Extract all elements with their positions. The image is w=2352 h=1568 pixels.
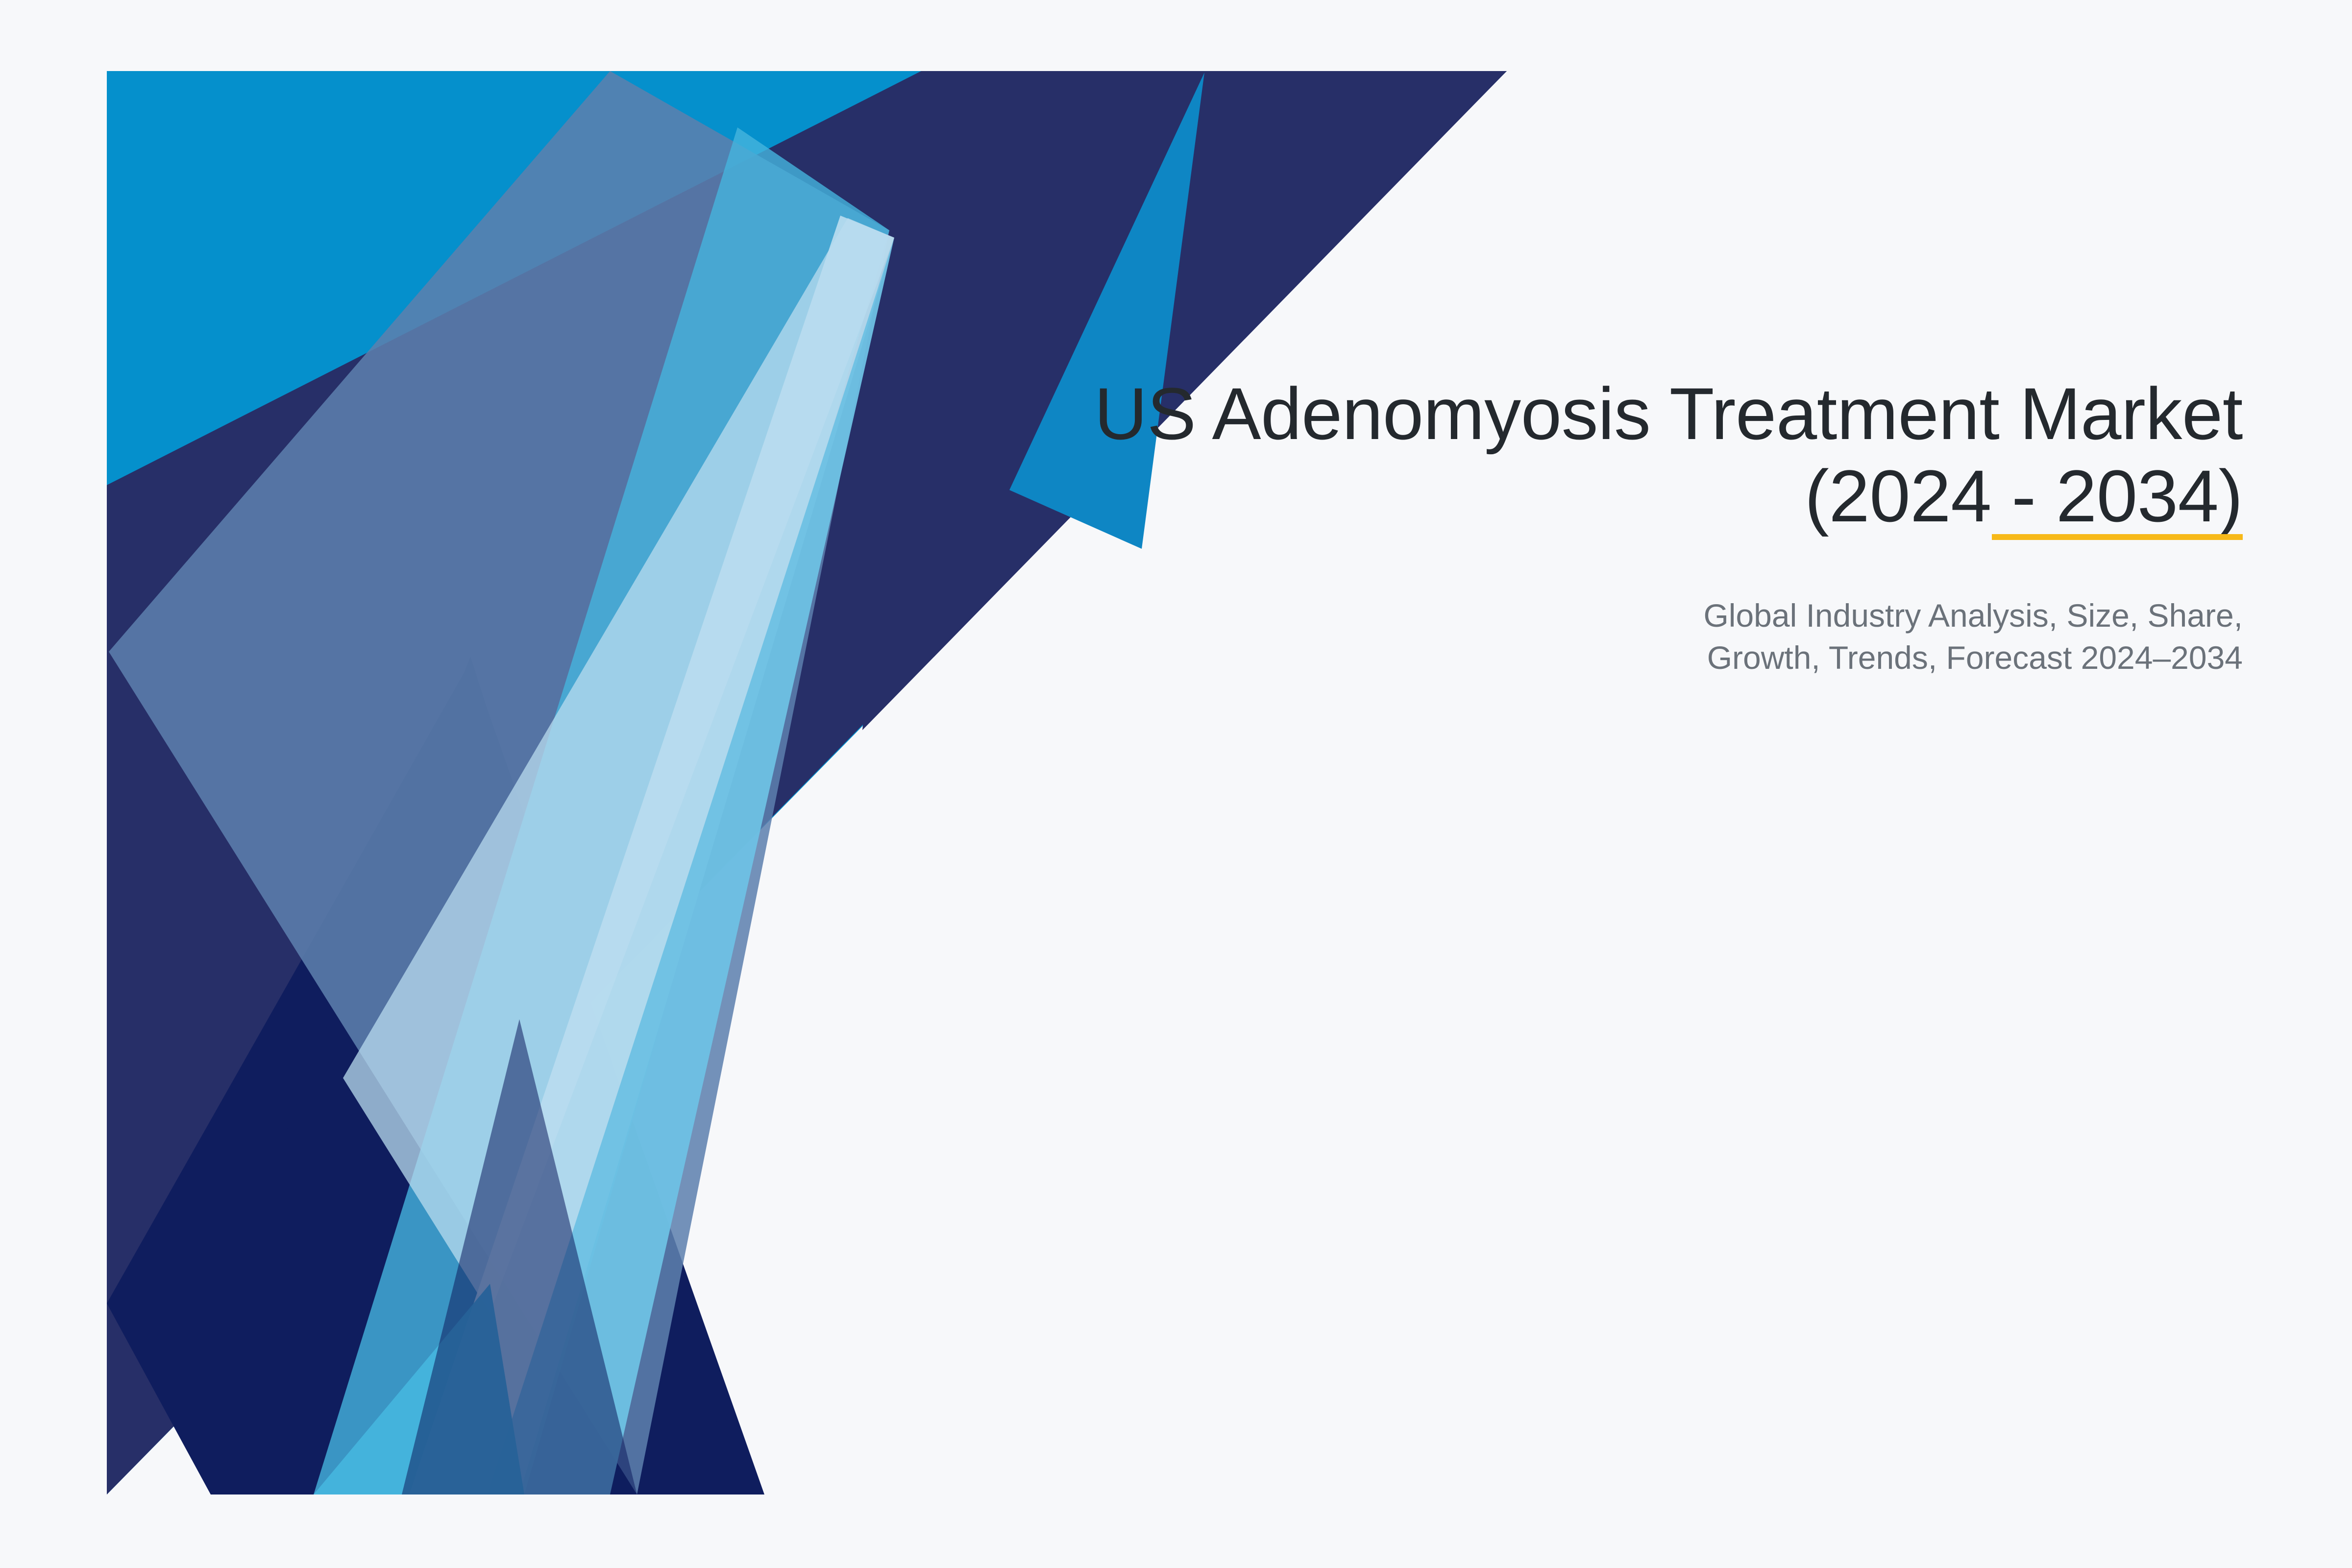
- shape-deep-navy-lower: [107, 661, 764, 1494]
- shape-sky-blue-band: [314, 127, 889, 1494]
- title-line-2: (2024 - 2034): [871, 455, 2243, 537]
- title-line-1: US Adenomyosis Treatment Market: [871, 372, 2243, 455]
- shape-pale-blue-wedge: [343, 218, 894, 1313]
- shape-pale-blue-sheet: [409, 216, 894, 1494]
- abstract-polygon-artwork: [0, 0, 1568, 1568]
- page-title: US Adenomyosis Treatment Market (2024 - …: [871, 372, 2243, 537]
- shape-deep-navy-spike: [274, 657, 740, 1494]
- shape-cyan-base: [107, 71, 1507, 1494]
- shape-slate-panel: [109, 71, 889, 1494]
- cover-page: US Adenomyosis Treatment Market (2024 - …: [0, 0, 2352, 1568]
- subtitle-line-1: Global Industry Analysis, Size, Share,: [871, 595, 2243, 637]
- shape-light-cyan-sliver: [314, 1284, 524, 1494]
- cover-text-block: US Adenomyosis Treatment Market (2024 - …: [871, 372, 2243, 679]
- shape-navy-wedge: [107, 71, 1507, 1494]
- shape-sky-tint-midleft: [402, 1019, 637, 1494]
- shape-sky-blue-wedge-bottom: [488, 238, 894, 1494]
- page-subtitle: Global Industry Analysis, Size, Share, G…: [871, 537, 2243, 679]
- subtitle-line-2: Growth, Trends, Forecast 2024–2034: [871, 637, 2243, 679]
